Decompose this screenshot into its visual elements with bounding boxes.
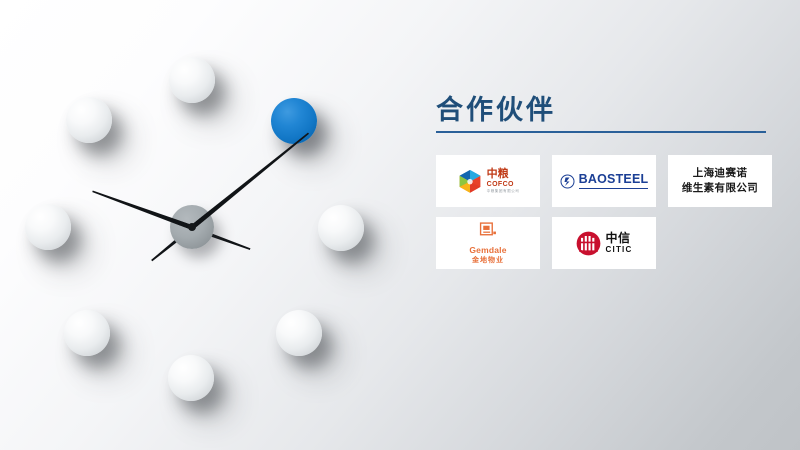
partner-card-baosteel[interactable]: BAOSTEEL	[552, 155, 656, 207]
disano-label-line2: 维生素有限公司	[682, 181, 758, 196]
gemdale-square-icon	[479, 222, 497, 239]
clock-center-pin	[188, 223, 196, 231]
clock-marker-8	[64, 310, 110, 356]
partner-card-citic[interactable]: 中信 CITIC	[552, 217, 656, 269]
partner-card-cofco[interactable]: 中粮 COFCO 中粮集团有限公司	[436, 155, 540, 207]
partner-card-empty-slot	[668, 217, 772, 269]
citic-seal-icon	[576, 231, 601, 256]
wall-clock-photo	[0, 0, 420, 450]
clock-marker-4	[276, 310, 322, 356]
baosteel-emblem-icon	[560, 174, 575, 189]
citic-en-label: CITIC	[606, 246, 633, 254]
citic-cn-label: 中信	[606, 232, 633, 245]
baosteel-label: BAOSTEEL	[579, 173, 649, 189]
title-underline-rule	[436, 131, 766, 133]
cofco-cube-icon	[457, 168, 483, 194]
gemdale-cn-label: 金地物业	[469, 257, 506, 264]
clock-marker-3	[318, 205, 364, 251]
partners-section: 合作伙伴	[432, 96, 772, 269]
page-title: 合作伙伴	[436, 96, 772, 125]
cofco-sub-label: 中粮集团有限公司	[487, 190, 520, 194]
partner-card-gemdale[interactable]: Gemdale 金地物业	[436, 217, 540, 269]
cofco-en-label: COFCO	[487, 181, 520, 188]
clock-marker-highlight	[271, 98, 317, 144]
clock-marker-6	[168, 355, 214, 401]
clock-minute-hand	[190, 131, 310, 229]
gemdale-en-label: Gemdale	[469, 246, 506, 255]
clock-marker-10	[66, 97, 112, 143]
partner-logo-grid: 中粮 COFCO 中粮集团有限公司 BAOSTEEL	[436, 155, 772, 269]
slide-canvas: 合作伙伴	[0, 0, 800, 450]
cofco-cn-label: 中粮	[487, 169, 520, 180]
partner-card-disano[interactable]: 上海迪赛诺 维生素有限公司	[668, 155, 772, 207]
clock-marker-9	[25, 204, 71, 250]
disano-label-line1: 上海迪赛诺	[682, 166, 758, 181]
clock-marker-12	[169, 57, 215, 103]
